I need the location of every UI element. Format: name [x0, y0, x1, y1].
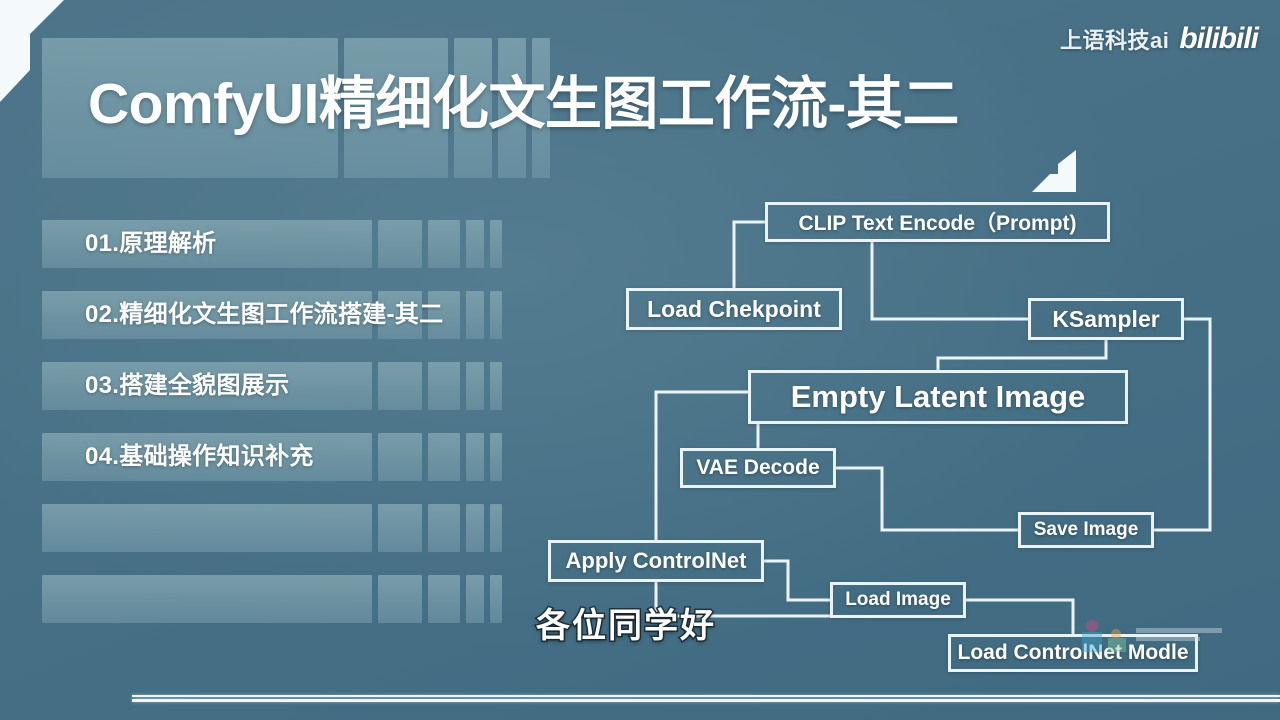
node-ksampler[interactable]: KSampler	[1028, 298, 1184, 340]
node-empty-latent-image[interactable]: Empty Latent Image	[748, 370, 1128, 424]
corner-arrow-icon	[1032, 150, 1076, 192]
agenda-bar-segment	[490, 433, 502, 481]
agenda-item-empty-1	[42, 504, 542, 552]
agenda-bar-segment	[42, 575, 372, 623]
agenda-item-01[interactable]: 01.原理解析	[42, 220, 542, 268]
bilibili-logo-icon: bilibili	[1179, 22, 1258, 56]
agenda-item-04[interactable]: 04.基础操作知识补充	[42, 433, 542, 481]
slide-canvas: ComfyUI精细化文生图工作流-其二 上语科技ai bilibili 01.原…	[0, 0, 1280, 720]
agenda-bar-segment	[490, 575, 502, 623]
agenda-bar-segment	[378, 362, 422, 410]
agenda-item-label: 04.基础操作知识补充	[85, 433, 314, 481]
agenda-bar-segment	[466, 504, 484, 552]
agenda-item-label: 02.精细化文生图工作流搭建-其二	[85, 291, 443, 339]
node-vae-decode[interactable]: VAE Decode	[680, 448, 836, 488]
company-name: 上语科技ai	[1060, 23, 1169, 55]
agenda-bar-segment	[378, 504, 422, 552]
agenda-list: 01.原理解析 02.精细化文生图工作流搭建-其二 03.搭建全貌图展示 04.…	[42, 220, 542, 646]
agenda-bar-segment	[378, 220, 422, 268]
agenda-bar-segment	[466, 433, 484, 481]
agenda-bar-segment	[466, 291, 484, 339]
agenda-item-02[interactable]: 02.精细化文生图工作流搭建-其二	[42, 291, 542, 339]
agenda-item-label: 03.搭建全貌图展示	[85, 362, 289, 410]
node-save-image[interactable]: Save Image	[1018, 512, 1154, 548]
node-load-image[interactable]: Load Image	[830, 582, 966, 618]
agenda-bar-segment	[378, 575, 422, 623]
agenda-bar-segment	[466, 362, 484, 410]
agenda-bar-segment	[490, 291, 502, 339]
branding: 上语科技ai bilibili	[1060, 22, 1258, 56]
bottom-divider	[132, 695, 1280, 702]
agenda-bar-segment	[466, 220, 484, 268]
agenda-bar-segment	[428, 362, 460, 410]
agenda-bar-segment	[466, 575, 484, 623]
agenda-bar-segment	[490, 362, 502, 410]
agenda-bar-segment	[428, 220, 460, 268]
agenda-bar-segment	[490, 220, 502, 268]
node-load-controlnet-model[interactable]: Load ControlNet Modle	[948, 634, 1198, 672]
agenda-bar-segment	[42, 504, 372, 552]
agenda-bar-segment	[490, 504, 502, 552]
agenda-bar-segment	[378, 433, 422, 481]
node-clip-text-encode[interactable]: CLIP Text Encode（Prompt)	[765, 202, 1110, 242]
agenda-bar-segment	[428, 433, 460, 481]
agenda-item-label: 01.原理解析	[85, 220, 216, 268]
agenda-bar-segment	[428, 575, 460, 623]
node-apply-controlnet[interactable]: Apply ControlNet	[548, 540, 764, 582]
agenda-bar-segment	[428, 504, 460, 552]
subtitle-caption: 各位同学好	[536, 598, 716, 647]
agenda-item-empty-2	[42, 575, 542, 623]
node-load-checkpoint[interactable]: Load Chekpoint	[626, 288, 842, 330]
agenda-item-03[interactable]: 03.搭建全貌图展示	[42, 362, 542, 410]
